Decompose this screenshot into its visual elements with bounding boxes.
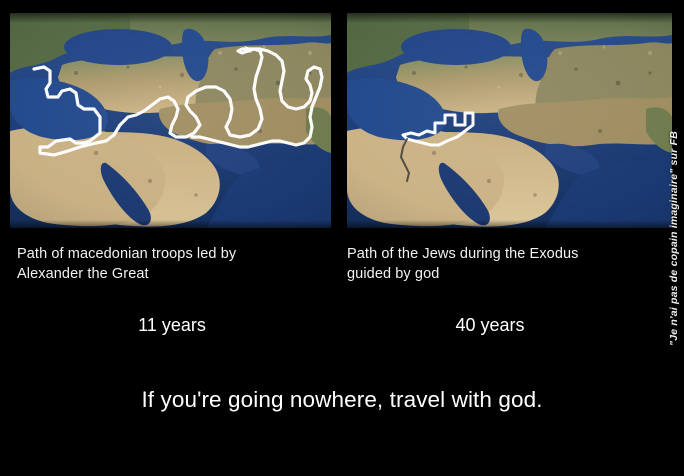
meme-image: Path of macedonian troops led by Alexand… xyxy=(0,0,684,476)
punchline-text: If you're going nowhere, travel with god… xyxy=(0,385,684,415)
satellite-map-right xyxy=(347,13,672,228)
duration-right: 40 years xyxy=(390,313,590,337)
caption-right: Path of the Jews during the Exodus guide… xyxy=(347,244,647,284)
map-panel-left xyxy=(10,13,331,228)
map-panel-right xyxy=(347,13,672,228)
duration-left: 11 years xyxy=(72,313,272,337)
watermark: "Je n'ai pas de copain imaginaire" sur F… xyxy=(664,0,684,476)
caption-left: Path of macedonian troops led by Alexand… xyxy=(17,244,317,284)
watermark-text: "Je n'ai pas de copain imaginaire" sur F… xyxy=(668,131,680,346)
satellite-map-left xyxy=(10,13,331,228)
